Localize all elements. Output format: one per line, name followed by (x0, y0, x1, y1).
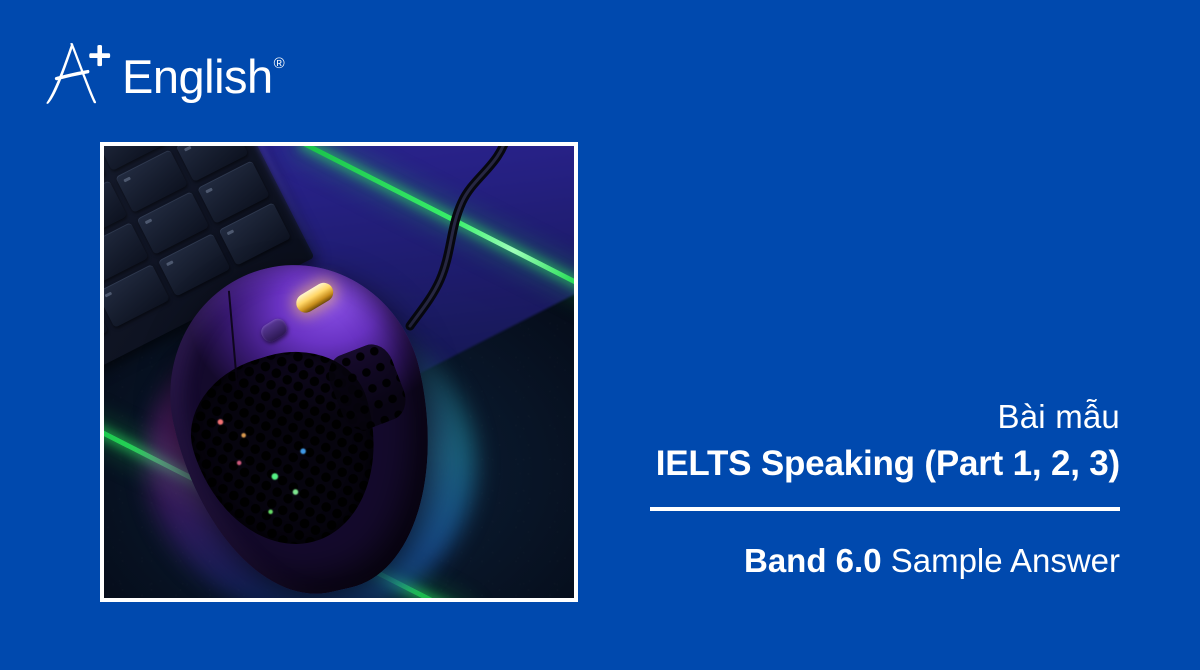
logo-wordmark-text: English (122, 50, 273, 103)
title-block: Bài mẫu IELTS Speaking (Part 1, 2, 3) Ba… (650, 398, 1120, 581)
band-subtitle: Band 6.0 Sample Answer (650, 541, 1120, 581)
band-score-label: Band 6.0 (744, 542, 882, 579)
kicker-text: Bài mẫu (650, 398, 1120, 437)
sample-answer-label: Sample Answer (882, 542, 1120, 579)
logo-wordmark: English® (122, 53, 283, 106)
registered-trademark-icon: ® (274, 55, 285, 72)
braided-cable (400, 146, 520, 330)
photo-frame (100, 142, 578, 602)
a-plus-icon (40, 40, 114, 106)
brand-logo[interactable]: English® (40, 34, 283, 106)
rgb-gaming-mouse-photo (104, 146, 574, 598)
title-divider (650, 507, 1120, 511)
page-title: IELTS Speaking (Part 1, 2, 3) (650, 443, 1120, 485)
promo-banner: English® (0, 0, 1200, 670)
